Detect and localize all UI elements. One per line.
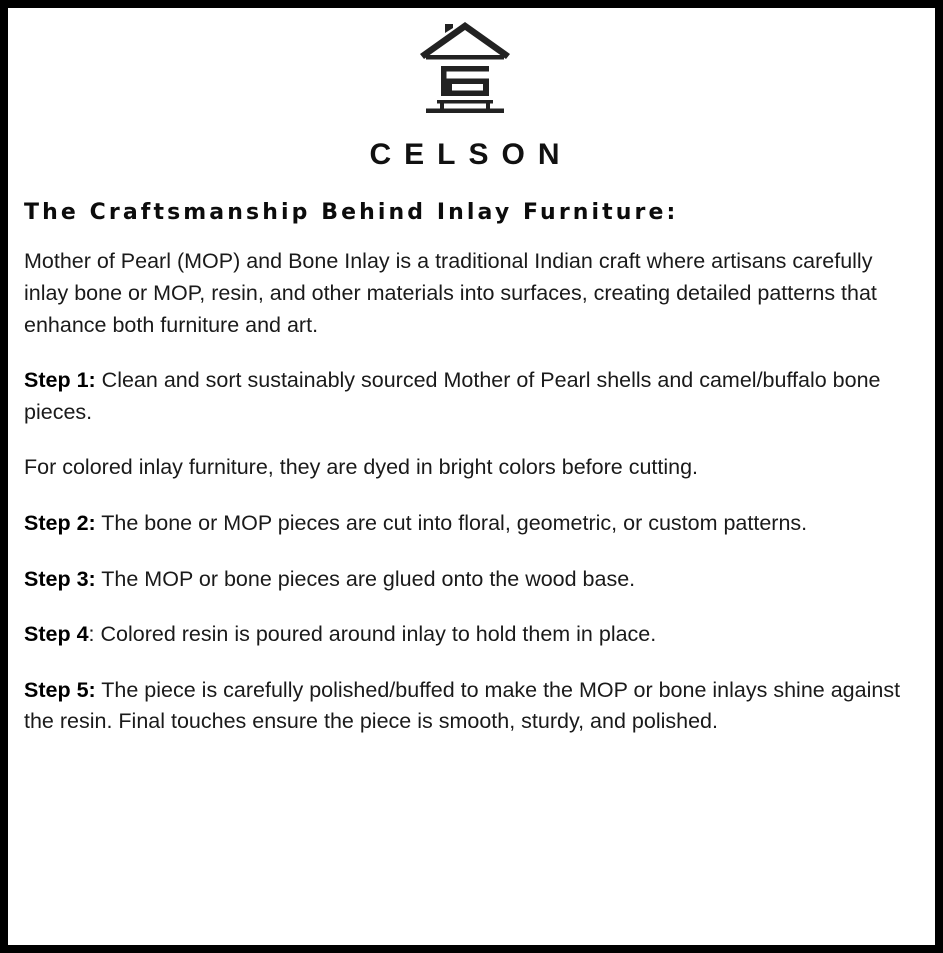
- note-paragraph: For colored inlay furniture, they are dy…: [24, 452, 913, 484]
- step-text: Colored resin is poured around inlay to …: [95, 622, 657, 646]
- step-text: Clean and sort sustainably sourced Mothe…: [24, 368, 881, 424]
- intro-paragraph: Mother of Pearl (MOP) and Bone Inlay is …: [24, 246, 913, 341]
- page-title: The Craftsmanship Behind Inlay Furniture…: [24, 200, 913, 226]
- step-separator: :: [89, 678, 96, 702]
- brand-wordmark: CELSON: [356, 140, 572, 170]
- step-text: The MOP or bone pieces are glued onto th…: [96, 567, 635, 591]
- step-text: The bone or MOP pieces are cut into flor…: [96, 511, 807, 535]
- step-paragraph: Step 2: The bone or MOP pieces are cut i…: [24, 508, 913, 540]
- step-text: The piece is carefully polished/buffed t…: [24, 678, 900, 734]
- step-paragraph: Step 1: Clean and sort sustainably sourc…: [24, 365, 913, 428]
- brand-block: CELSON: [16, 14, 913, 170]
- poster-content-area: CELSON The Craftsmanship Behind Inlay Fu…: [8, 8, 935, 945]
- step-label: Step 1: [24, 368, 89, 392]
- step-label: Step 5: [24, 678, 89, 702]
- step-paragraph: Step 5: The piece is carefully polished/…: [24, 675, 913, 738]
- step-paragraph: Step 3: The MOP or bone pieces are glued…: [24, 564, 913, 596]
- poster-card: CELSON The Craftsmanship Behind Inlay Fu…: [0, 0, 943, 953]
- step-label: Step 4: [24, 622, 89, 646]
- article-body: Mother of Pearl (MOP) and Bone Inlay is …: [24, 226, 913, 738]
- step-separator: :: [89, 368, 96, 392]
- step-separator: :: [89, 567, 96, 591]
- step-label: Step 2: [24, 511, 89, 535]
- step-separator: :: [89, 511, 96, 535]
- step-paragraph: Step 4: Colored resin is poured around i…: [24, 619, 913, 651]
- note-text: For colored inlay furniture, they are dy…: [24, 455, 698, 479]
- step-label: Step 3: [24, 567, 89, 591]
- house-monogram-icon: [417, 20, 513, 120]
